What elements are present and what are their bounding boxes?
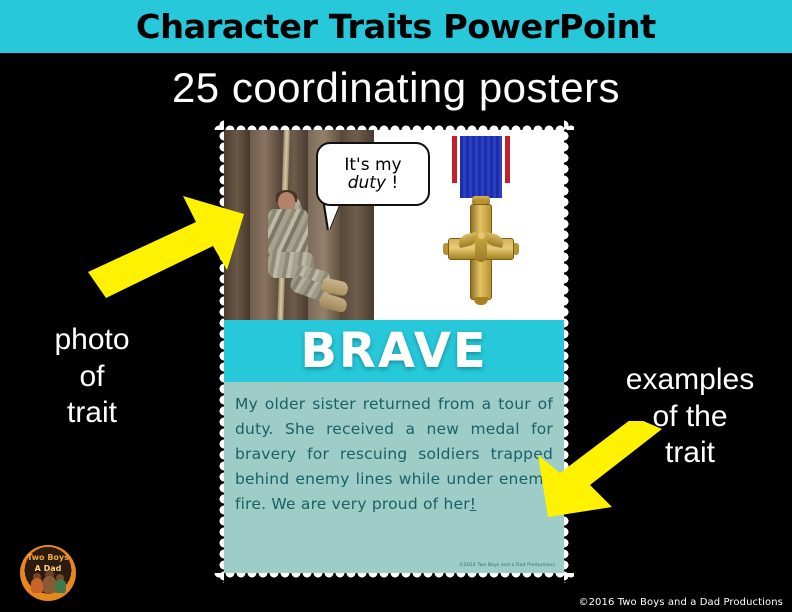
- annotation-right-line-1: examples: [592, 362, 788, 399]
- poster-content: It's my duty ! BRAVE My older sister ret…: [224, 130, 564, 573]
- annotation-right: examples of the trait: [592, 362, 788, 472]
- speech-line-2: duty !: [348, 174, 399, 192]
- brand-logo: Two Boys A Dad: [20, 545, 76, 601]
- annotation-left-line-1: photo: [6, 322, 178, 359]
- left-pointer-arrow-icon: [88, 186, 244, 320]
- annotation-right-line-3: trait: [592, 435, 788, 472]
- eagle-icon: [458, 232, 504, 266]
- annotation-left-line-3: trait: [6, 395, 178, 432]
- subtitle-text: 25 coordinating posters: [0, 64, 792, 112]
- poster-credit: ©2016 Two Boys and a Dad Productions: [459, 563, 555, 568]
- footer-credit: ©2016 Two Boys and a Dad Productions: [578, 597, 783, 608]
- speech-line-2-tail: !: [386, 173, 398, 193]
- medal-cross-icon: [448, 204, 514, 300]
- annotation-right-line-2: of the: [592, 399, 788, 436]
- description-main: My older sister returned from a tour of …: [235, 395, 553, 513]
- annotation-left-line-2: of: [6, 359, 178, 396]
- trait-word: BRAVE: [300, 323, 487, 379]
- speech-bubble: It's my duty !: [316, 142, 430, 206]
- slide-canvas: Character Traits PowerPoint 25 coordinat…: [0, 0, 792, 612]
- header-band: Character Traits PowerPoint: [0, 0, 792, 53]
- medal-ribbon-icon: [452, 136, 510, 198]
- description-underlined: !: [470, 495, 476, 513]
- trait-description-text: My older sister returned from a tour of …: [235, 392, 553, 518]
- logo-line-1: Two Boys: [20, 553, 76, 562]
- header-title: Character Traits PowerPoint: [136, 7, 656, 46]
- speech-line-2-italic: duty: [348, 173, 386, 193]
- trait-description-box: My older sister returned from a tour of …: [224, 382, 564, 573]
- trait-banner: BRAVE: [224, 320, 564, 382]
- speech-line-1: It's my: [344, 156, 401, 174]
- poster-image-row: It's my duty !: [224, 130, 564, 320]
- annotation-left: photo of trait: [6, 322, 178, 432]
